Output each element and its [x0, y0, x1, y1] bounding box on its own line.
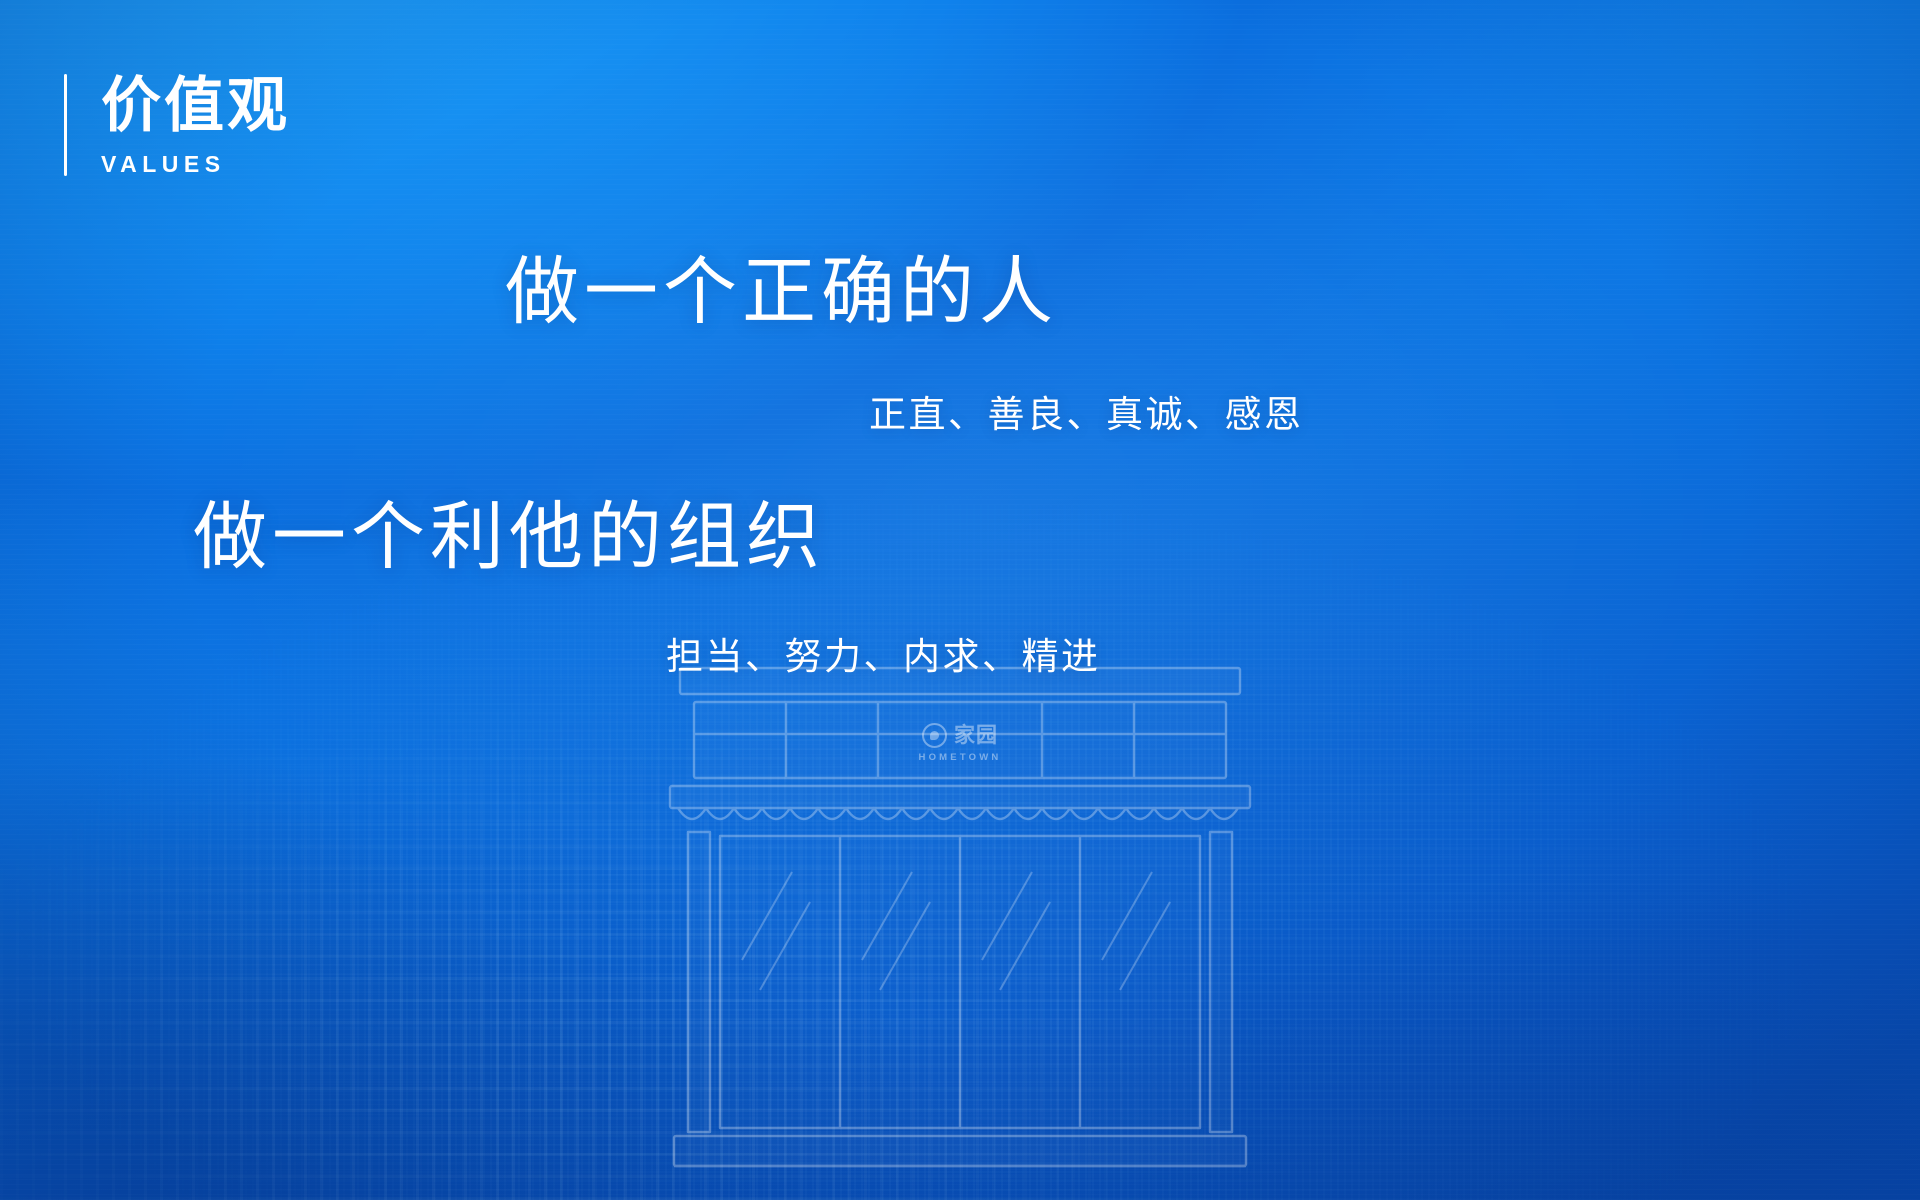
- slide-canvas: 家园 HOMETOWN 价值观 VALUES 做一个正确的人 正直、善良、真诚、…: [0, 0, 1920, 1200]
- values-group: 做一个正确的人 正直、善良、真诚、感恩 做一个利他的组织 担当、努力、内求、精进: [0, 0, 1920, 1200]
- value-qualities-2: 担当、努力、内求、精进: [666, 638, 1101, 675]
- value-headline-2: 做一个利他的组织: [193, 500, 825, 574]
- value-qualities-1: 正直、善良、真诚、感恩: [869, 396, 1304, 433]
- value-headline-1: 做一个正确的人: [505, 255, 1058, 329]
